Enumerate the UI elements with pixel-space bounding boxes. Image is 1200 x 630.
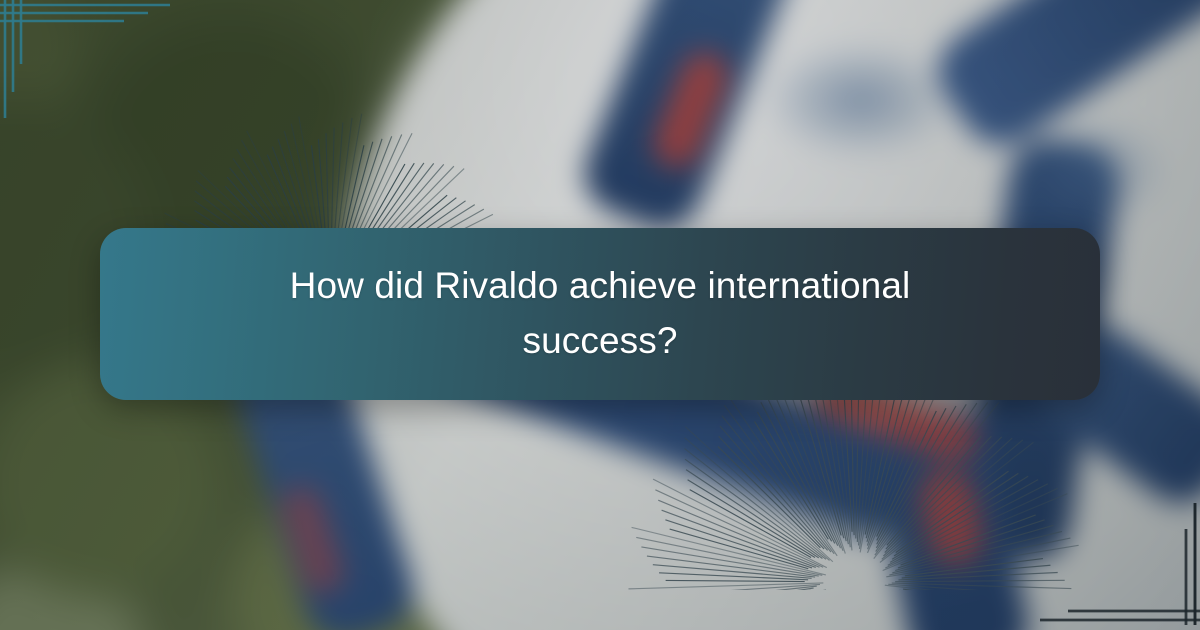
social-question-card-image: How did Rivaldo achieve international su… [0, 0, 1200, 630]
question-card: How did Rivaldo achieve international su… [100, 228, 1100, 400]
question-text: How did Rivaldo achieve international su… [250, 259, 950, 369]
